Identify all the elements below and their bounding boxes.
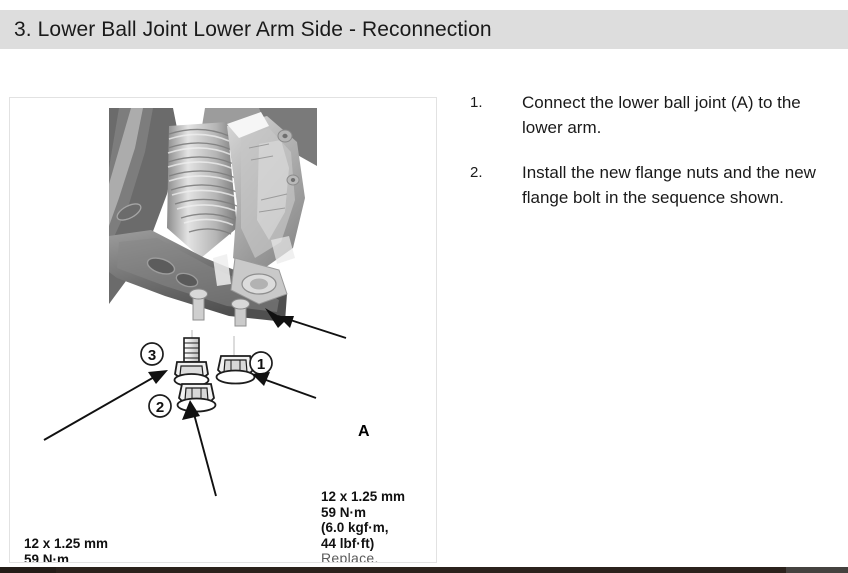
bottom-strip-left-segment (0, 567, 56, 573)
instruction-item-2-text: Install the new flange nuts and the new … (522, 160, 842, 210)
leader-arrow-a (265, 308, 346, 338)
sequence-marker-1: 1 (250, 352, 272, 374)
leader-arrow-mid-callout (182, 400, 216, 496)
section-header-bar: 3. Lower Ball Joint Lower Arm Side - Rec… (0, 10, 848, 49)
torque-callout-right-line-2: 59 N·m (321, 505, 405, 521)
instruction-item-1-number: 1. (470, 90, 522, 115)
torque-callout-right: 12 x 1.25 mm 59 N·m (6.0 kgf·m, 44 lbf·f… (321, 489, 405, 563)
instruction-item-1: 1. Connect the lower ball joint (A) to t… (470, 90, 842, 140)
bottom-strip-right-segment (786, 567, 848, 573)
part-label-a: A (358, 423, 370, 441)
flange-nut-1 (217, 356, 255, 384)
sequence-marker-3: 3 (141, 343, 163, 365)
torque-callout-right-line-3: (6.0 kgf·m, (321, 520, 405, 536)
bottom-strip (0, 567, 848, 573)
torque-callout-right-line-4: 44 lbf·ft) (321, 536, 405, 552)
leader-arrow-right-callout (252, 372, 316, 398)
sequence-marker-2-label: 2 (156, 399, 164, 416)
instruction-item-2: 2. Install the new flange nuts and the n… (470, 160, 842, 210)
sequence-marker-2: 2 (149, 395, 171, 417)
torque-callout-right-line-1: 12 x 1.25 mm (321, 489, 405, 505)
instruction-list: 1. Connect the lower ball joint (A) to t… (470, 90, 842, 230)
sequence-marker-3-label: 3 (148, 347, 156, 364)
illustration-panel: 3 1 2 A (9, 97, 437, 563)
flange-nut-2 (178, 384, 216, 412)
torque-callout-left-line-2: 59 N·m (24, 552, 108, 564)
torque-callout-right-note: Replace. (321, 551, 405, 563)
instruction-item-2-number: 2. (470, 160, 522, 185)
torque-callout-left-line-1: 12 x 1.25 mm (24, 536, 108, 552)
flange-bolt-3 (175, 338, 209, 386)
page-title: 3. Lower Ball Joint Lower Arm Side - Rec… (14, 18, 492, 42)
instruction-item-1-text: Connect the lower ball joint (A) to the … (522, 90, 842, 140)
sequence-marker-1-label: 1 (257, 356, 265, 373)
torque-callout-left: 12 x 1.25 mm 59 N·m (6.0 kgf·m, 44 lbf·f… (24, 536, 108, 563)
